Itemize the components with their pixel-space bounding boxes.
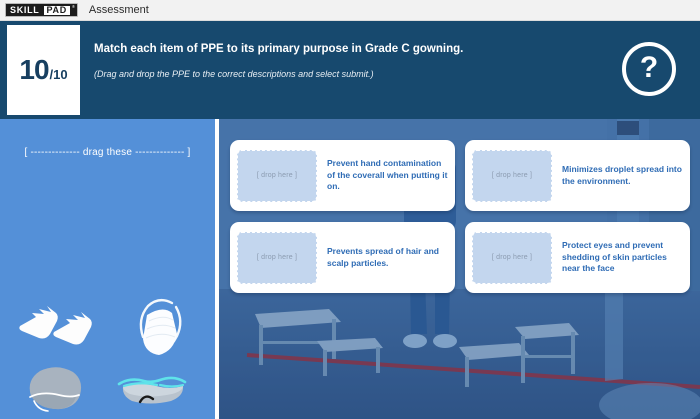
drag-palette: [ -------------- drag these ------------… xyxy=(0,119,215,419)
drop-card-eyes[interactable]: [ drop here ] Protect eyes and prevent s… xyxy=(465,222,690,293)
ppe-item-bouffant-cap[interactable] xyxy=(24,365,86,413)
assessment-header: 10 /10 Match each item of PPE to its pri… xyxy=(0,21,700,119)
bouffant-cap-icon xyxy=(24,365,86,413)
dropzone-mask[interactable]: [ drop here ] xyxy=(472,150,552,202)
logo-skill-text: SKILL xyxy=(6,4,43,16)
logo-pad-wrapper: PAD xyxy=(43,4,72,16)
logo-pad-text: PAD xyxy=(44,6,70,15)
ppe-item-safety-goggles[interactable] xyxy=(114,375,190,407)
drop-card-mask[interactable]: [ drop here ] Minimizes droplet spread i… xyxy=(465,140,690,211)
dropzone-hair[interactable]: [ drop here ] xyxy=(237,232,317,284)
dropzone-eyes[interactable]: [ drop here ] xyxy=(472,232,552,284)
drop-card-grid: [ drop here ] Prevent hand contamination… xyxy=(219,119,700,419)
drop-card-mask-text: Minimizes droplet spread into the enviro… xyxy=(552,164,683,187)
score-inner: 10 /10 xyxy=(19,54,67,86)
drop-card-hands[interactable]: [ drop here ] Prevent hand contamination… xyxy=(230,140,455,211)
skillpad-logo[interactable]: SKILL PAD ® xyxy=(5,3,78,17)
dropzone-hands[interactable]: [ drop here ] xyxy=(237,150,317,202)
ppe-item-face-mask[interactable] xyxy=(132,297,186,361)
question-instructions: (Drag and drop the PPE to the correct de… xyxy=(94,69,622,79)
header-text-block: Match each item of PPE to its primary pu… xyxy=(80,21,622,119)
score-badge: 10 /10 xyxy=(7,25,80,115)
safety-goggles-icon xyxy=(114,375,190,407)
drag-these-label: [ -------------- drag these ------------… xyxy=(0,147,215,158)
ppe-item-gloves[interactable] xyxy=(14,302,92,344)
page-title: Assessment xyxy=(89,4,149,16)
assessment-body: [ -------------- drag these ------------… xyxy=(0,119,700,419)
score-value: 10 xyxy=(19,54,48,86)
drop-card-hair-text: Prevents spread of hair and scalp partic… xyxy=(317,246,448,269)
question-title: Match each item of PPE to its primary pu… xyxy=(94,43,622,55)
drop-card-hair[interactable]: [ drop here ] Prevents spread of hair an… xyxy=(230,222,455,293)
help-button[interactable]: ? xyxy=(622,42,676,96)
gloves-icon xyxy=(14,302,92,344)
registered-trademark-icon: ® xyxy=(72,4,77,9)
drop-panel: [ drop here ] Prevent hand contamination… xyxy=(219,119,700,419)
score-denominator: /10 xyxy=(50,67,68,82)
face-mask-icon xyxy=(132,297,186,361)
top-bar: SKILL PAD ® Assessment xyxy=(0,0,700,21)
drop-card-hands-text: Prevent hand contamination of the covera… xyxy=(317,158,448,193)
drop-card-eyes-text: Protect eyes and prevent shedding of ski… xyxy=(552,240,683,275)
